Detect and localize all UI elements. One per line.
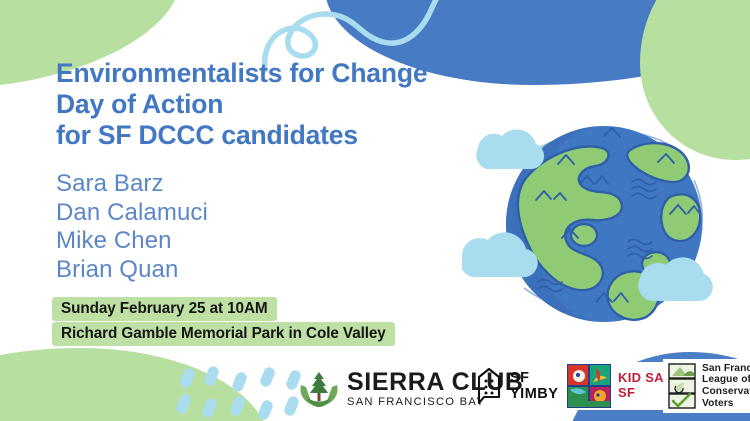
lcv-line-4: Voters — [702, 398, 750, 410]
lcv-line-1: San Francisco — [702, 363, 750, 375]
event-datetime: Sunday February 25 at 10AM — [52, 297, 277, 321]
headline-line-2: Day of Action — [56, 89, 526, 120]
logo-sf-league-of-conservation-voters[interactable]: San Francisco League of Conservation Vot… — [663, 359, 750, 413]
house-speech-bubble-icon — [475, 366, 503, 406]
logo-sf-yimby[interactable]: SF YIMBY — [475, 366, 558, 406]
mosaic-square-icon — [567, 364, 611, 408]
event-location: Richard Gamble Memorial Park in Cole Val… — [52, 322, 395, 346]
yimby-line-1: SF — [510, 370, 558, 386]
candidate-name: Sara Barz — [56, 170, 356, 199]
event-poster: Environmentalists for Change Day of Acti… — [0, 0, 750, 421]
sponsor-logo-row: SIERRA CLUB SAN FRANCISCO BAY SF YIMBY — [180, 358, 750, 420]
lcv-line-2: League of — [702, 374, 750, 386]
event-details: Sunday February 25 at 10AM Richard Gambl… — [52, 297, 395, 346]
candidate-name: Brian Quan — [56, 256, 356, 285]
candidate-name: Dan Calamuci — [56, 199, 356, 228]
headline-line-3: for SF DCCC candidates — [56, 120, 526, 151]
poster-headline: Environmentalists for Change Day of Acti… — [56, 58, 526, 151]
candidate-name: Mike Chen — [56, 227, 356, 256]
candidate-name-list: Sara Barz Dan Calamuci Mike Chen Brian Q… — [56, 170, 356, 284]
headline-line-1: Environmentalists for Change — [56, 58, 526, 89]
yimby-line-2: YIMBY — [510, 386, 558, 402]
tree-in-hands-icon — [298, 369, 340, 409]
three-panel-nature-icon — [667, 362, 697, 410]
lcv-line-3: Conservation — [702, 386, 750, 398]
